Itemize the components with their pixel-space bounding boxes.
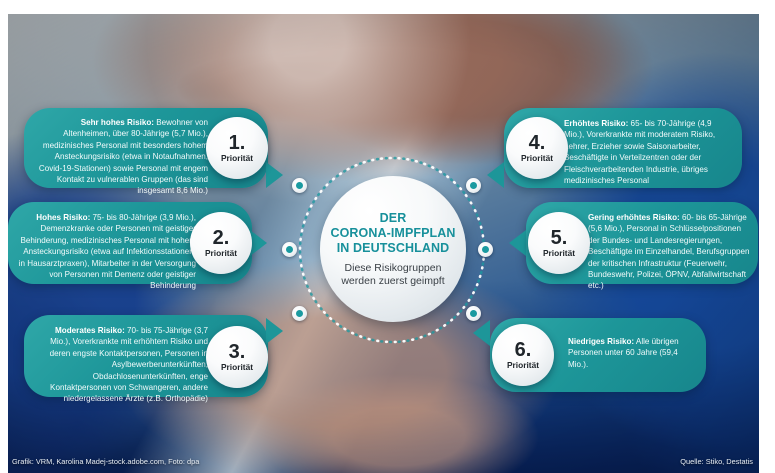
priority-circle-4-label: Priorität — [521, 154, 553, 163]
priority-card-5-body: 60- bis 65-Jährige (5,6 Mio.), Personal … — [588, 213, 750, 290]
priority-card-4-body: 65- bis 70-Jährige (4,9 Mio.), Vorerkran… — [564, 119, 715, 185]
priority-circle-5-label: Priorität — [543, 249, 575, 258]
priority-card-6-tail — [473, 320, 490, 346]
priority-circle-1[interactable]: 1. Priorität — [206, 117, 268, 179]
priority-card-4-text: Erhöhtes Risiko: 65- bis 70-Jährige (4,9… — [564, 118, 732, 186]
priority-card-2-tail — [250, 230, 267, 256]
center-title-line-1: DER — [330, 211, 455, 226]
priority-circle-4-number: 4. — [529, 133, 546, 153]
frame-left — [0, 0, 8, 473]
priority-card-3-tail — [266, 318, 283, 344]
priority-circle-2-number: 2. — [213, 228, 230, 248]
center-title: DER CORONA-IMPFPLAN IN DEUTSCHLAND — [330, 211, 455, 256]
priority-card-6-heading: Niedriges Risiko: — [568, 337, 634, 346]
priority-circle-3-number: 3. — [229, 342, 246, 362]
priority-card-3-heading: Moderates Risiko: — [55, 326, 125, 335]
priority-card-3-body: 70- bis 75-Jährige (3,7 Mio.), Vorerkran… — [50, 326, 208, 403]
priority-card-2-text: Hohes Risiko: 75- bis 80-Jährige (3,9 Mi… — [18, 212, 196, 292]
priority-circle-6-number: 6. — [515, 340, 532, 360]
connector-node-5 — [478, 242, 493, 257]
connector-node-4 — [466, 178, 481, 193]
priority-circle-2[interactable]: 2. Priorität — [190, 212, 252, 274]
connector-node-3 — [292, 306, 307, 321]
priority-card-1-text: Sehr hohes Risiko: Bewohner von Altenhei… — [36, 117, 208, 197]
connector-node-6 — [466, 306, 481, 321]
credit-graphic: Grafik: VRM, Karolina Madej-stock.adobe.… — [12, 457, 199, 467]
priority-card-2-body: 75- bis 80-Jährige (3,9 Mio.), Demenzkra… — [19, 213, 196, 290]
priority-card-5-heading: Gering erhöhtes Risiko: — [588, 213, 680, 222]
credit-source: Quelle: Stiko, Destatis — [680, 457, 753, 467]
priority-card-5-tail — [509, 230, 526, 256]
center-subtitle-line-1: Diese Risikogruppen — [341, 262, 444, 275]
priority-card-4-tail — [487, 162, 504, 188]
frame-top — [0, 0, 775, 14]
priority-circle-6-label: Priorität — [507, 361, 539, 370]
priority-card-1-body: Bewohner von Altenheimen, über 80-Jährig… — [39, 118, 208, 195]
priority-circle-4[interactable]: 4. Priorität — [506, 117, 568, 179]
priority-card-2-heading: Hohes Risiko: — [36, 213, 90, 222]
priority-circle-5[interactable]: 5. Priorität — [528, 212, 590, 274]
priority-card-4-heading: Erhöhtes Risiko: — [564, 119, 628, 128]
center-disc: DER CORONA-IMPFPLAN IN DEUTSCHLAND Diese… — [320, 176, 466, 322]
priority-card-5-text: Gering erhöhtes Risiko: 60- bis 65-Jähri… — [588, 212, 752, 292]
priority-circle-5-number: 5. — [551, 228, 568, 248]
center-title-line-3: IN DEUTSCHLAND — [330, 241, 455, 256]
center-title-line-2: CORONA-IMPFPLAN — [330, 226, 455, 241]
priority-circle-3[interactable]: 3. Priorität — [206, 326, 268, 388]
priority-card-6-text: Niedriges Risiko: Alle übrigen Personen … — [568, 336, 700, 370]
priority-card-3-text: Moderates Risiko: 70- bis 75-Jährige (3,… — [36, 325, 208, 405]
center-subtitle-line-2: werden zuerst geimpft — [341, 275, 444, 288]
priority-card-1-tail — [266, 162, 283, 188]
priority-circle-2-label: Priorität — [205, 249, 237, 258]
priority-card-1-heading: Sehr hohes Risiko: — [81, 118, 154, 127]
connector-node-1 — [292, 178, 307, 193]
infographic-root: DER CORONA-IMPFPLAN IN DEUTSCHLAND Diese… — [0, 0, 775, 473]
priority-circle-3-label: Priorität — [221, 363, 253, 372]
frame-right — [759, 0, 775, 473]
connector-node-2 — [282, 242, 297, 257]
priority-circle-1-label: Priorität — [221, 154, 253, 163]
center-subtitle: Diese Risikogruppen werden zuerst geimpf… — [341, 262, 444, 288]
priority-circle-6[interactable]: 6. Priorität — [492, 324, 554, 386]
priority-circle-1-number: 1. — [229, 133, 246, 153]
